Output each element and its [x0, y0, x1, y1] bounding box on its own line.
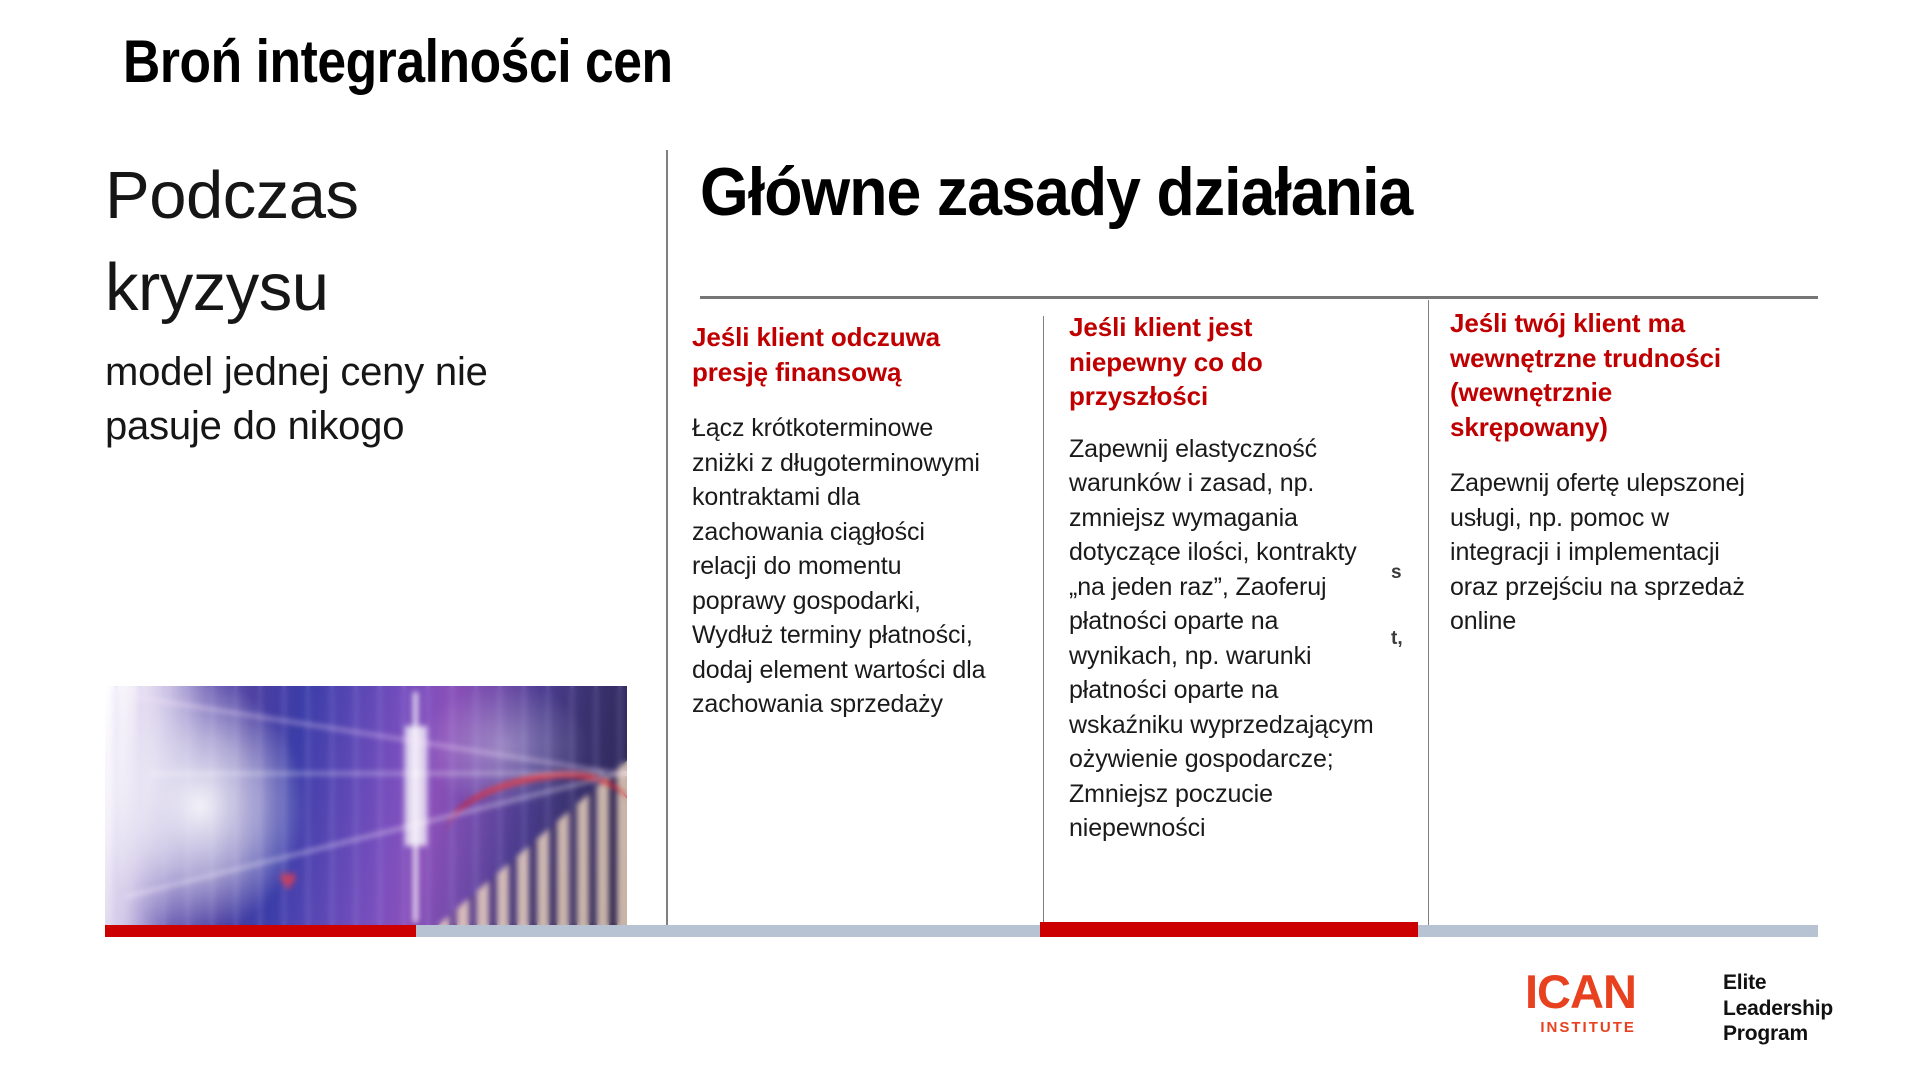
- principle-column-1: Jeśli klient odczuwa presję finansową Łą…: [692, 310, 992, 722]
- principle-body-2: Zapewnij elastyczność warunków i zasad, …: [1069, 432, 1374, 846]
- principle-body-1: Łącz krótkoterminowe zniżki z długotermi…: [692, 411, 992, 722]
- principles-columns: Jeśli klient odczuwa presję finansową Łą…: [0, 310, 1920, 920]
- heading-underline: [700, 296, 1818, 299]
- principle-body-3: Zapewnij ofertę ulepszonej usługi, np. p…: [1450, 466, 1750, 639]
- footer-bar-red-left: [105, 925, 416, 937]
- principle-heading-3: Jeśli twój klient ma wewnętrzne trudnośc…: [1450, 306, 1750, 444]
- stray-glyph-t: t,: [1391, 628, 1403, 650]
- ican-institute-label: INSTITUTE: [1525, 1020, 1636, 1035]
- principle-column-3: Jeśli twój klient ma wewnętrzne trudnośc…: [1450, 310, 1750, 639]
- elp-line-3: Program: [1723, 1021, 1833, 1047]
- brand-logo: ICAN INSTITUTE Elite Leadership Program: [1525, 968, 1845, 1046]
- principle-column-2: Jeśli klient jest niepewny co do przyszł…: [1069, 310, 1374, 846]
- left-headline: Podczas kryzysu: [105, 150, 525, 335]
- page-title: Broń integralności cen: [123, 30, 673, 93]
- elite-leadership-program-label: Elite Leadership Program: [1723, 970, 1833, 1047]
- ican-logo: ICAN INSTITUTE: [1525, 968, 1636, 1035]
- footer-bar-red-middle: [1040, 922, 1418, 937]
- stray-glyph-s: s: [1391, 562, 1402, 584]
- elp-line-1: Elite: [1723, 970, 1833, 996]
- principle-heading-1: Jeśli klient odczuwa presję finansową: [692, 320, 992, 389]
- ican-wordmark: ICAN: [1525, 968, 1636, 1015]
- elp-line-2: Leadership: [1723, 996, 1833, 1022]
- principle-heading-2: Jeśli klient jest niepewny co do przyszł…: [1069, 310, 1374, 414]
- section-heading: Główne zasady działania: [700, 158, 1412, 226]
- slide-canvas: Broń integralności cen Podczas kryzysu m…: [0, 0, 1920, 1080]
